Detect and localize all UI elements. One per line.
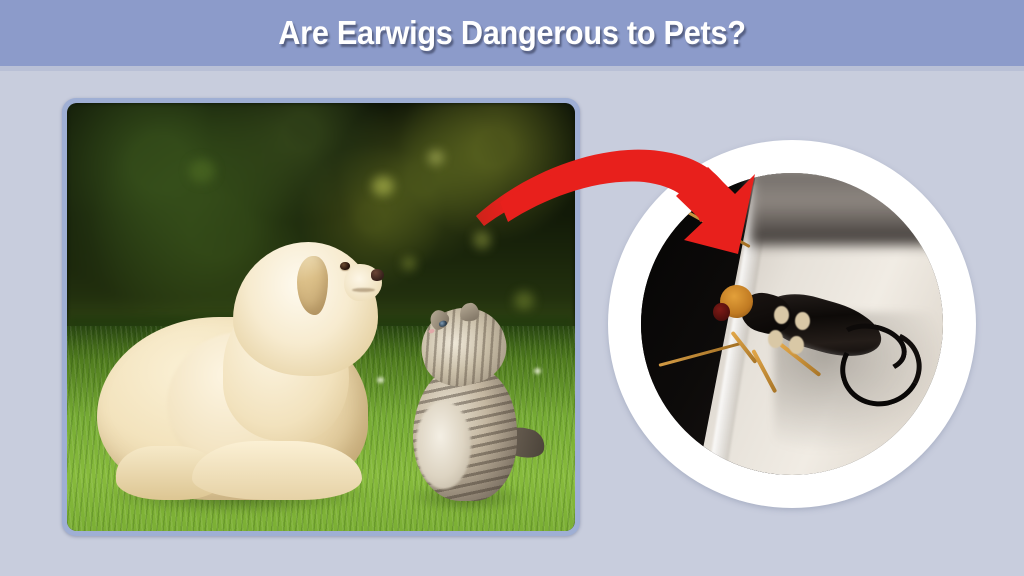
header-band-shadow (0, 66, 1024, 71)
puppy-nose (371, 269, 384, 281)
bokeh-light (372, 176, 394, 196)
puppy-and-kitten-photo (67, 103, 575, 531)
page-title: Are Earwigs Dangerous to Pets? (36, 11, 988, 55)
puppy-mouth-line (352, 288, 375, 292)
earwig-closeup-photo (641, 173, 943, 475)
puppy-eye (340, 262, 349, 270)
labrador-puppy (97, 257, 412, 505)
puppy-and-kitten-photo-frame (62, 98, 580, 536)
earwig-wing-marking (795, 312, 810, 330)
earwig-circle-ring (608, 140, 976, 508)
infographic-canvas: Are Earwigs Dangerous to Pets? (0, 0, 1024, 576)
earwig-eye (713, 303, 730, 321)
bokeh-light (428, 150, 444, 165)
puppy-right-paw (192, 441, 362, 501)
kitten-nose (428, 329, 435, 334)
puppy-head (233, 242, 378, 376)
kitten-ear-right (459, 303, 480, 323)
blurred-top-object (750, 173, 943, 245)
bokeh-light (189, 159, 215, 183)
puppy-ear (297, 256, 329, 315)
earwig-wing-marking (768, 330, 783, 348)
kitten-chest (416, 401, 471, 490)
earwig-wing-marking (774, 306, 789, 324)
tabby-kitten (402, 308, 539, 501)
